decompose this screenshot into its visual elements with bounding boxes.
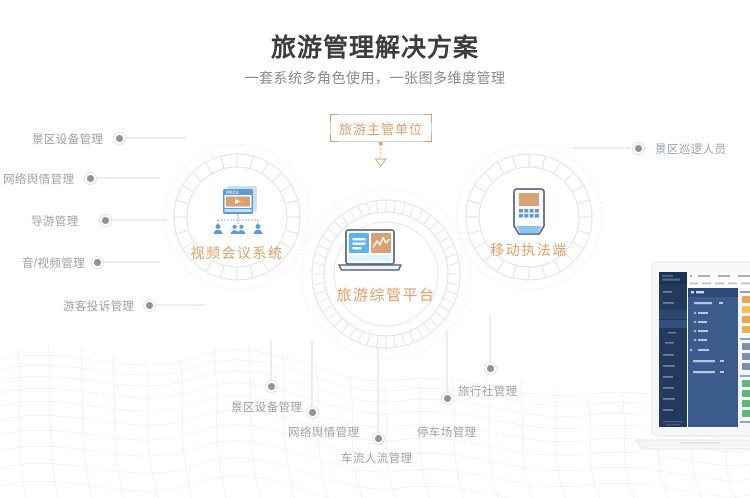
handheld-device-icon (505, 185, 553, 241)
laptop-dashboard-icon (334, 228, 406, 278)
badge-corner-top-left (330, 114, 338, 122)
connector-dot (484, 362, 497, 375)
page-title: 旅游管理解决方案 (0, 28, 750, 64)
bottom-item-label[interactable]: 旅行社管理 (458, 383, 518, 399)
badge-corner-bottom-left (330, 134, 338, 142)
connector-dot (632, 142, 645, 155)
right-item-label[interactable]: 景区巡逻人员 (655, 141, 726, 157)
badge-corner-bottom-right (424, 134, 432, 142)
bottom-item-label[interactable]: 车流人流管理 (341, 450, 412, 466)
left-item-label[interactable]: 网络舆情管理 (3, 171, 74, 187)
left-item-label[interactable]: 音/视频管理 (22, 255, 85, 271)
badge-corner-top-right (424, 114, 432, 122)
bottom-item-label[interactable]: 停车场管理 (417, 424, 477, 440)
connector-dot (372, 432, 385, 445)
bottom-item-label[interactable]: 网络舆情管理 (288, 424, 359, 440)
authority-badge[interactable]: 旅游主管单位 (330, 114, 432, 142)
connector-dot (91, 256, 104, 269)
svg-text:视频会议: 视频会议 (226, 190, 240, 195)
left-item-label[interactable]: 游客投诉管理 (63, 298, 134, 314)
connector-dot (113, 132, 126, 145)
left-item-label[interactable]: 导游管理 (31, 213, 79, 229)
left-item-label[interactable]: 景区设备管理 (32, 131, 103, 147)
connector-dot (84, 172, 97, 185)
connector-dot (143, 299, 156, 312)
connector-dot (99, 214, 112, 227)
laptop-dashboard-mockup (632, 258, 750, 498)
authority-badge-label: 旅游主管单位 (339, 119, 423, 138)
dotted-down-arrow-icon (370, 142, 392, 168)
connector-dot (265, 380, 278, 393)
connector-dot (441, 392, 454, 405)
connector-dot (306, 406, 319, 419)
page-subtitle: 一套系统多角色使用，一张图多维度管理 (0, 68, 750, 88)
bottom-item-label[interactable]: 景区设备管理 (231, 399, 302, 415)
video-window-icon: 视频会议 (208, 183, 266, 237)
solution-infographic: 旅游管理解决方案 一套系统多角色使用，一张图多维度管理 旅游主管单位 (0, 0, 750, 498)
node-label-platform: 旅游综管平台 (286, 284, 486, 305)
